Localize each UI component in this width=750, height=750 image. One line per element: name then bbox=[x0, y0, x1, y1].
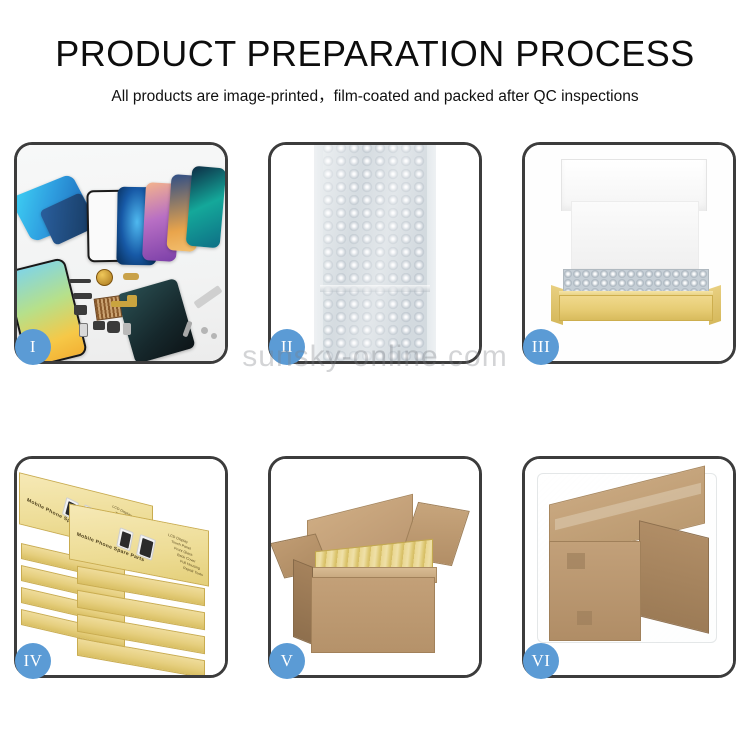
process-step-4: Mobile Phone Spare Parts LCD Display Tou… bbox=[14, 456, 228, 678]
small-part-3 bbox=[123, 323, 131, 335]
retail-box-stack: Mobile Phone Spare Parts LCD Display Tou… bbox=[17, 459, 225, 675]
step-2-image bbox=[271, 145, 479, 361]
process-step-6: VI bbox=[522, 456, 736, 678]
camera-module bbox=[74, 305, 87, 315]
carton-front-sealed bbox=[549, 541, 641, 641]
page-title: PRODUCT PREPARATION PROCESS bbox=[0, 33, 750, 75]
carton-tab-upper bbox=[567, 553, 585, 569]
step-3-image bbox=[525, 145, 733, 361]
vibration-motor bbox=[96, 269, 113, 286]
process-step-3: III bbox=[522, 142, 736, 364]
carton-tab-lower bbox=[577, 611, 592, 625]
foam-padding bbox=[571, 201, 699, 269]
phone-display-teal bbox=[186, 166, 225, 249]
retail-box-brand-label-front: Mobile Phone Spare Parts bbox=[76, 531, 145, 563]
connector-grid bbox=[94, 295, 123, 320]
step-5-image bbox=[271, 459, 479, 675]
step-6-image bbox=[525, 459, 733, 675]
flex-cable-2 bbox=[123, 273, 139, 280]
plastic-sheen bbox=[323, 145, 427, 361]
step-badge-6: VI bbox=[523, 643, 559, 679]
step-badge-4: IV bbox=[15, 643, 51, 679]
step-badge-3: III bbox=[523, 329, 559, 365]
carton-front-open bbox=[311, 577, 435, 653]
carton-side-sealed bbox=[639, 520, 709, 633]
small-part-1 bbox=[93, 321, 105, 330]
flex-cable-1 bbox=[69, 279, 91, 283]
screw-1 bbox=[201, 327, 208, 334]
speaker-part bbox=[127, 295, 137, 307]
process-step-2: II bbox=[268, 142, 482, 364]
flex-cable-3 bbox=[73, 293, 92, 299]
product-preparation-page: PRODUCT PREPARATION PROCESS All products… bbox=[0, 0, 750, 750]
step-badge-5: V bbox=[269, 643, 305, 679]
sim-tray bbox=[79, 323, 88, 337]
step-badge-2: II bbox=[269, 329, 305, 365]
step-4-image: Mobile Phone Spare Parts LCD Display Tou… bbox=[17, 459, 225, 675]
step-badge-1: I bbox=[15, 329, 51, 365]
step-1-image bbox=[17, 145, 225, 361]
inner-box-front bbox=[559, 295, 713, 321]
page-header: PRODUCT PREPARATION PROCESS All products… bbox=[0, 0, 750, 106]
carton-side-left bbox=[293, 559, 313, 645]
page-subtitle: All products are image-printed，film-coat… bbox=[0, 84, 750, 106]
screw-2 bbox=[211, 333, 217, 339]
process-step-grid: I II bbox=[14, 142, 736, 678]
process-step-5: V bbox=[268, 456, 482, 678]
process-step-1: I bbox=[14, 142, 228, 364]
small-part-2 bbox=[107, 321, 120, 333]
